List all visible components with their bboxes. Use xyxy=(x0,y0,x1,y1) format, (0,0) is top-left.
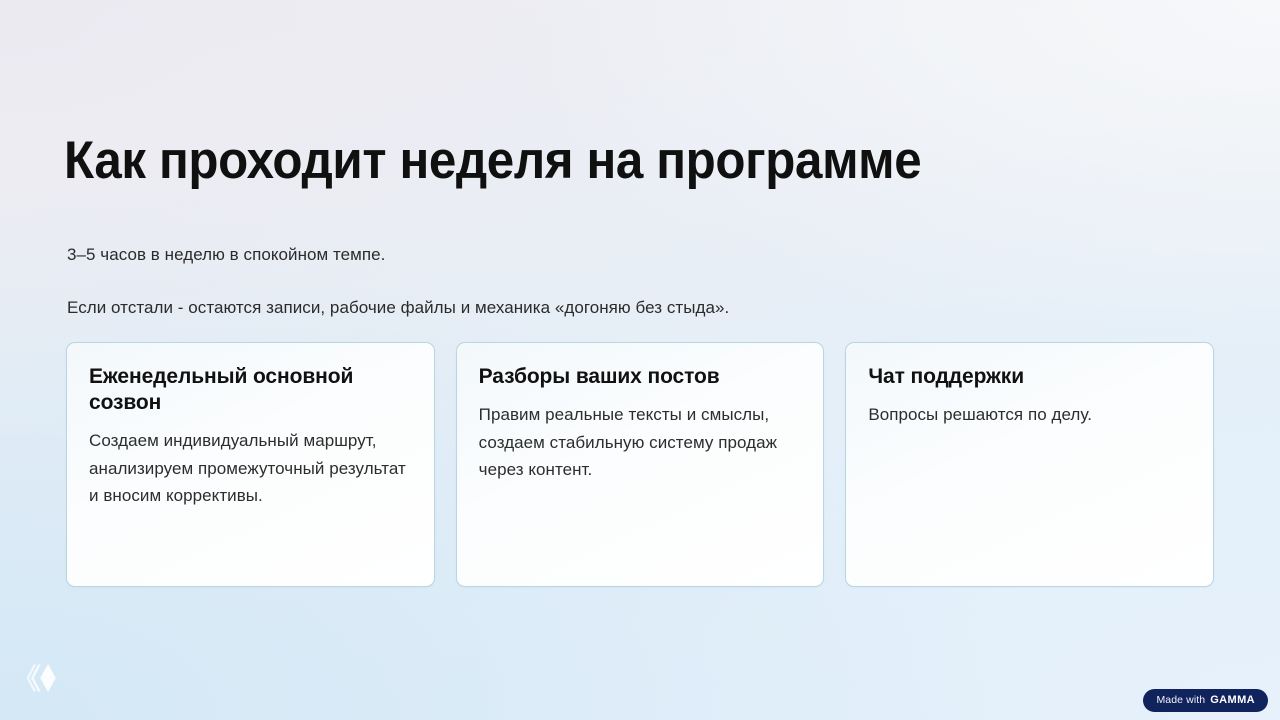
lead-paragraph-1: 3–5 часов в неделю в спокойном темпе. xyxy=(67,243,385,268)
card-title: Чат поддержки xyxy=(868,364,1191,390)
badge-gamma-wordmark: GAMMA xyxy=(1210,695,1255,706)
diamond-chevron-logo-icon xyxy=(22,658,62,698)
card-title: Еженедельный основной созвон xyxy=(89,364,412,416)
badge-made-with-label: Made with xyxy=(1156,695,1205,706)
card-body: Вопросы решаются по делу. xyxy=(868,401,1191,429)
slide-canvas: Как проходит неделя на программе 3–5 час… xyxy=(0,0,1280,720)
card-post-reviews: Разборы ваших постов Правим реальные тек… xyxy=(456,342,825,587)
card-body: Создаем индивидуальный маршрут, анализир… xyxy=(89,427,412,510)
card-row: Еженедельный основной созвон Создаем инд… xyxy=(66,342,1214,587)
lead-paragraph-2: Если отстали - остаются записи, рабочие … xyxy=(67,296,729,321)
card-title: Разборы ваших постов xyxy=(479,364,802,390)
card-weekly-call: Еженедельный основной созвон Создаем инд… xyxy=(66,342,435,587)
card-body: Правим реальные тексты и смыслы, создаем… xyxy=(479,401,802,484)
page-title: Как проходит неделя на программе xyxy=(64,132,1134,189)
made-with-gamma-badge[interactable]: Made with GAMMA xyxy=(1143,689,1268,712)
card-support-chat: Чат поддержки Вопросы решаются по делу. xyxy=(845,342,1214,587)
